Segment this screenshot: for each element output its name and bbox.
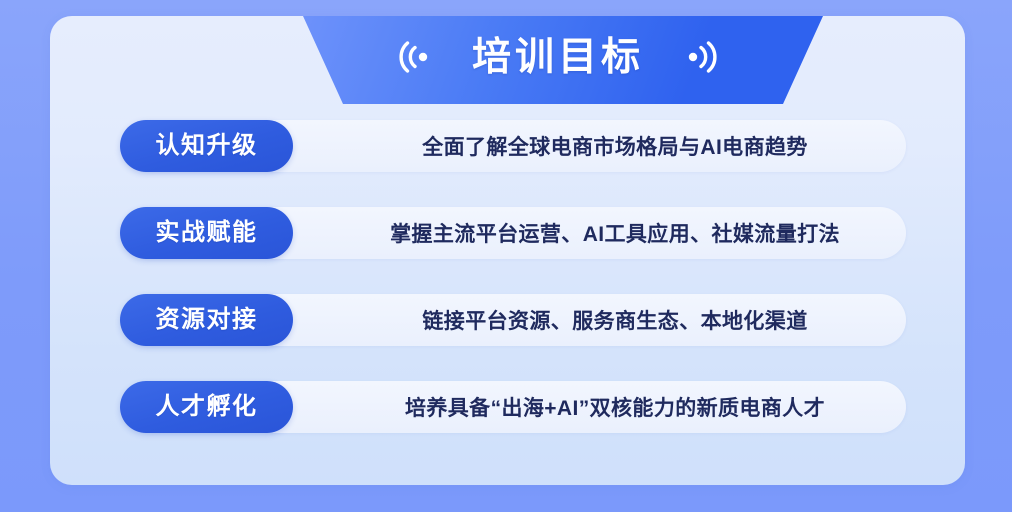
goal-description: 链接平台资源、服务商生态、本地化渠道: [315, 294, 915, 346]
goal-description: 掌握主流平台运营、AI工具应用、社媒流量打法: [315, 207, 915, 259]
goal-label: 人才孵化: [156, 395, 258, 419]
sound-wave-icon: [682, 39, 722, 75]
goals-list: 认知升级 全面了解全球电商市场格局与AI电商趋势 实战赋能 掌握主流平台运营、A…: [50, 120, 965, 468]
goal-label: 资源对接: [156, 308, 258, 332]
training-goals-card: 培训目标 认知升级 全面了解全球电商市场格局与AI电商趋势 实战赋能 掌握主流平…: [50, 16, 965, 485]
goal-label-pill[interactable]: 资源对接: [120, 294, 293, 346]
list-item: 认知升级 全面了解全球电商市场格局与AI电商趋势: [50, 120, 965, 172]
goal-description: 培养具备“出海+AI”双核能力的新质电商人才: [315, 381, 915, 433]
goal-description: 全面了解全球电商市场格局与AI电商趋势: [315, 120, 915, 172]
page-title: 培训目标: [472, 38, 644, 77]
goal-label-pill[interactable]: 实战赋能: [120, 207, 293, 259]
goal-label-pill[interactable]: 人才孵化: [120, 381, 293, 433]
goal-label-pill[interactable]: 认知升级: [120, 120, 293, 172]
list-item: 实战赋能 掌握主流平台运营、AI工具应用、社媒流量打法: [50, 207, 965, 259]
sound-wave-icon: [394, 39, 434, 75]
section-header-banner: 培训目标: [293, 16, 823, 104]
goal-label: 认知升级: [156, 134, 258, 158]
list-item: 人才孵化 培养具备“出海+AI”双核能力的新质电商人才: [50, 381, 965, 433]
goal-label: 实战赋能: [156, 221, 258, 245]
list-item: 资源对接 链接平台资源、服务商生态、本地化渠道: [50, 294, 965, 346]
